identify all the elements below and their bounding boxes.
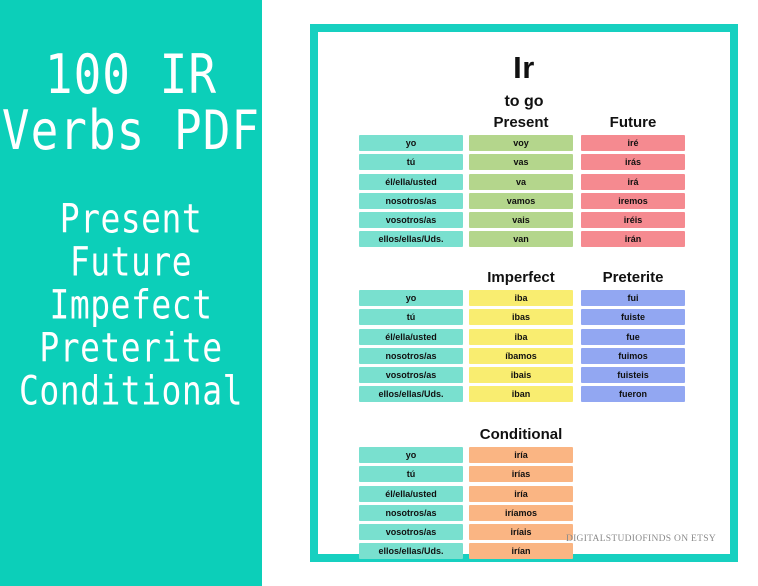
form-cell-future: irás [581, 154, 685, 170]
promo-title-line-2: Verbs PDF [2, 97, 260, 163]
pronoun-cell: vosotros/as [359, 524, 463, 540]
column-header-imperfect: Imperfect [469, 269, 573, 286]
form-cell-imperfect: iba [469, 329, 573, 345]
form-cell-future: iréis [581, 212, 685, 228]
form-cell-preterite: fuimos [581, 348, 685, 364]
pronoun-cell: él/ella/usted [359, 329, 463, 345]
form-cell-present: vamos [469, 193, 573, 209]
form-cell-conditional: irías [469, 466, 573, 482]
table-row: ellos/ellas/Uds. van irán [359, 231, 699, 250]
pronoun-cell: nosotros/as [359, 348, 463, 364]
form-cell-imperfect: ibais [469, 367, 573, 383]
form-cell-conditional: iría [469, 486, 573, 502]
form-cell-future: iré [581, 135, 685, 151]
table-row: vosotros/as ibais fuisteis [359, 367, 699, 386]
form-cell-present: vas [469, 154, 573, 170]
verb-meaning: to go [318, 93, 730, 111]
table-row: vosotros/as vais iréis [359, 212, 699, 231]
form-cell-preterite: fue [581, 329, 685, 345]
conjugation-card: Ir to go Present Future yo voy iré tú v [310, 24, 738, 562]
table-row: tú ibas fuiste [359, 309, 699, 328]
header-row: Present Future [359, 114, 699, 135]
promo-tense-list: Present Future Impefect Preterite Condit… [19, 198, 243, 412]
pronoun-cell: nosotros/as [359, 505, 463, 521]
form-cell-present: vais [469, 212, 573, 228]
pronoun-cell: él/ella/usted [359, 486, 463, 502]
table-row: él/ella/usted iba fue [359, 329, 699, 348]
form-cell-preterite: fueron [581, 386, 685, 402]
page-root: 100 IR Verbs PDF Present Future Impefect… [0, 0, 758, 586]
form-cell-imperfect: íbamos [469, 348, 573, 364]
table-row: nosotros/as íbamos fuimos [359, 348, 699, 367]
header-row: Imperfect Preterite [359, 269, 699, 290]
form-cell-preterite: fui [581, 290, 685, 306]
column-header-future: Future [581, 114, 685, 131]
pronoun-cell: tú [359, 154, 463, 170]
table-row: yo iría [359, 447, 699, 466]
form-cell-preterite: fuisteis [581, 367, 685, 383]
tense-block-present-future: Present Future yo voy iré tú vas irás [359, 114, 699, 251]
promo-tense-conditional: Conditional [19, 365, 243, 417]
conjugation-rows: yo iría tú irías él/ella/usted iría noso… [359, 447, 699, 563]
form-cell-present: van [469, 231, 573, 247]
column-header-present: Present [469, 114, 573, 131]
pronoun-cell: tú [359, 466, 463, 482]
table-row: ellos/ellas/Uds. irían [359, 543, 699, 562]
table-row: tú vas irás [359, 154, 699, 173]
pronoun-cell: ellos/ellas/Uds. [359, 386, 463, 402]
pronoun-cell: vosotros/as [359, 212, 463, 228]
form-cell-future: iremos [581, 193, 685, 209]
promo-panel: 100 IR Verbs PDF Present Future Impefect… [0, 0, 262, 586]
form-cell-imperfect: iban [469, 386, 573, 402]
table-row: tú irías [359, 466, 699, 485]
table-row: yo voy iré [359, 135, 699, 154]
form-cell-conditional: irían [469, 543, 573, 559]
header-row: Conditional [359, 426, 699, 447]
form-cell-present: va [469, 174, 573, 190]
table-row: nosotros/as iríamos [359, 505, 699, 524]
form-cell-conditional: iríamos [469, 505, 573, 521]
form-cell-preterite: fuiste [581, 309, 685, 325]
form-cell-present: voy [469, 135, 573, 151]
form-cell-conditional: iríais [469, 524, 573, 540]
pronoun-cell: yo [359, 447, 463, 463]
table-row: él/ella/usted iría [359, 486, 699, 505]
conjugation-rows: yo iba fui tú ibas fuiste él/ella/usted … [359, 290, 699, 406]
form-cell-imperfect: iba [469, 290, 573, 306]
pronoun-cell: él/ella/usted [359, 174, 463, 190]
table-row: ellos/ellas/Uds. iban fueron [359, 386, 699, 405]
form-cell-future: irán [581, 231, 685, 247]
table-row: él/ella/usted va irá [359, 174, 699, 193]
card-inner: Ir to go Present Future yo voy iré tú v [318, 32, 730, 554]
pronoun-cell: nosotros/as [359, 193, 463, 209]
watermark: DIGITALSTUDIOFINDS ON ETSY [566, 534, 716, 544]
pronoun-cell: yo [359, 135, 463, 151]
pronoun-cell: ellos/ellas/Uds. [359, 543, 463, 559]
tense-block-imperfect-preterite: Imperfect Preterite yo iba fui tú ibas f… [359, 269, 699, 406]
form-cell-future: irá [581, 174, 685, 190]
form-cell-conditional: iría [469, 447, 573, 463]
form-cell-imperfect: ibas [469, 309, 573, 325]
column-header-preterite: Preterite [581, 269, 685, 286]
verb-title: Ir [318, 50, 730, 86]
column-header-conditional: Conditional [469, 426, 573, 443]
pronoun-cell: ellos/ellas/Uds. [359, 231, 463, 247]
table-row: nosotros/as vamos iremos [359, 193, 699, 212]
table-row: yo iba fui [359, 290, 699, 309]
pronoun-cell: yo [359, 290, 463, 306]
pronoun-cell: vosotros/as [359, 367, 463, 383]
conjugation-rows: yo voy iré tú vas irás él/ella/usted va … [359, 135, 699, 251]
pronoun-cell: tú [359, 309, 463, 325]
